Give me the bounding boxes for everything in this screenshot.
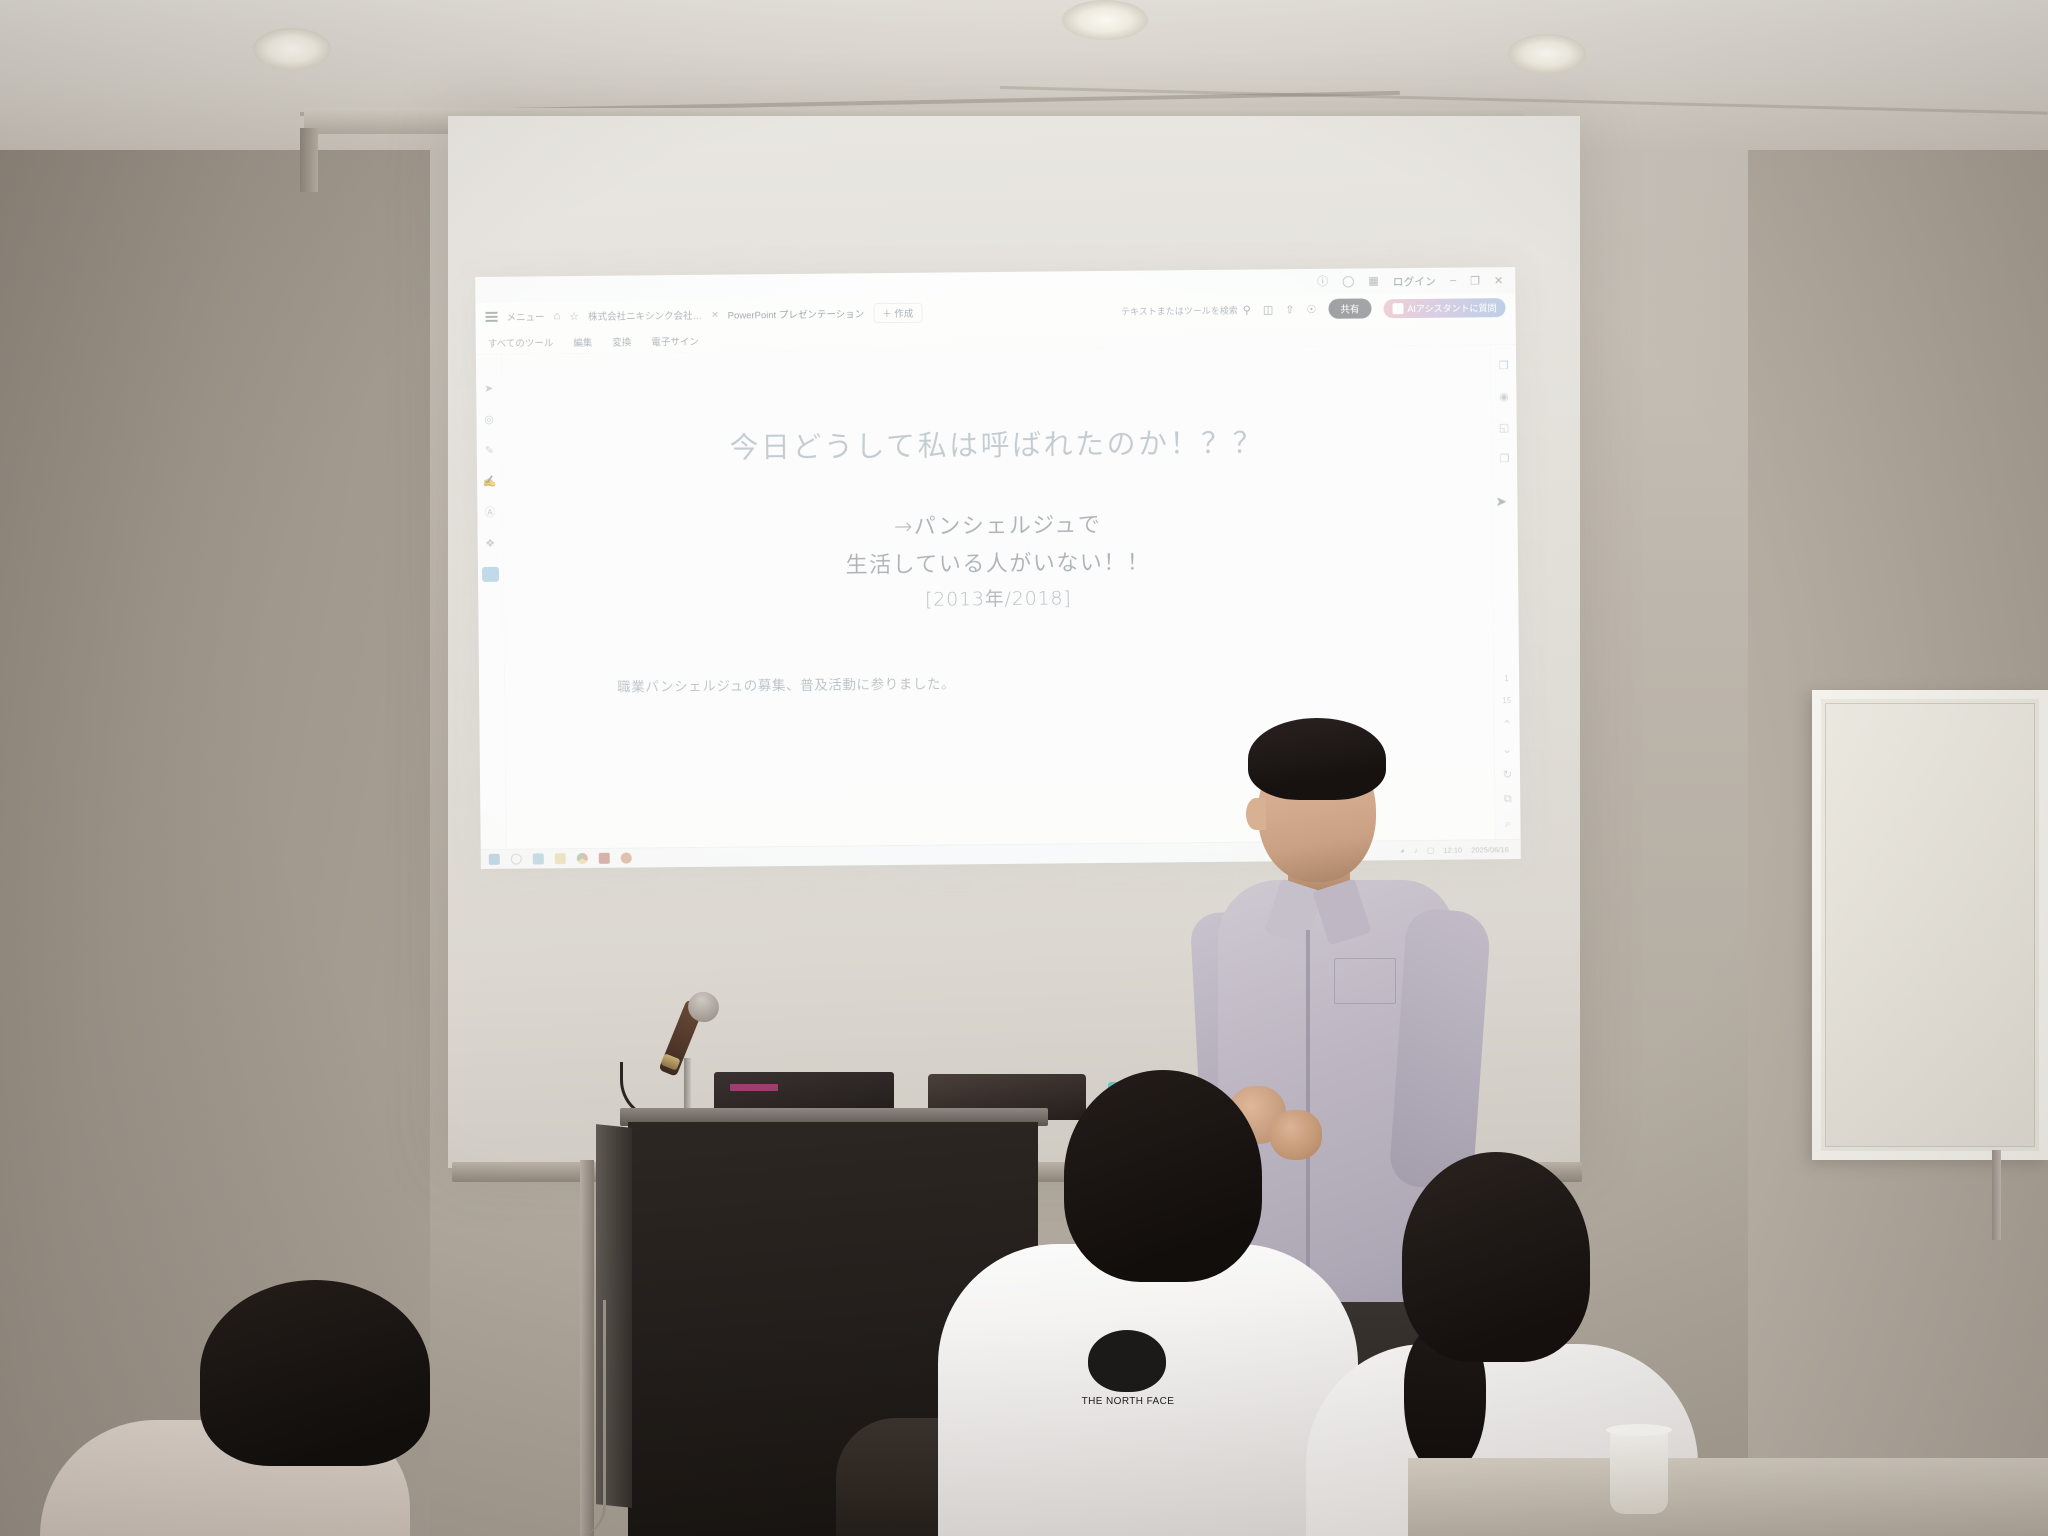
wifi-icon[interactable]: ◕	[1400, 846, 1405, 855]
menu-item-esign[interactable]: 電子サイン	[651, 333, 699, 347]
file-explorer-icon[interactable]	[555, 853, 566, 864]
briefcase-icon[interactable]: ◫	[1263, 303, 1274, 316]
tray-date[interactable]: 2025/06/16	[1471, 845, 1509, 854]
laptop-sticker	[730, 1084, 778, 1091]
login-button[interactable]: ログイン	[1393, 273, 1436, 288]
floor-cable	[560, 1300, 606, 1536]
tab-bar-right-group: テキストまたはツールを検索 ⚲ ◫ ⇧ ☉ 共有 AIアシスタントに質問	[1121, 297, 1516, 321]
slide-line-2: 生活している人がいない！！	[504, 541, 1492, 582]
ceiling-light-2	[1062, 0, 1148, 40]
rotate-icon[interactable]: ↻	[1503, 768, 1512, 781]
page-total: 15	[1502, 696, 1511, 706]
create-button[interactable]: ＋ 作成	[873, 303, 922, 323]
paper-cup	[1610, 1428, 1668, 1514]
chrome-icon[interactable]	[577, 853, 588, 864]
taskbar-search-icon[interactable]	[511, 854, 522, 865]
slide-note-text: 職業パンシェルジュの募集、普及活動に参りました。	[617, 672, 955, 695]
tab-powerpoint-presentation[interactable]: PowerPoint プレゼンテーション	[728, 306, 865, 321]
projector-screen-mount	[300, 128, 318, 192]
ai-assistant-button[interactable]: AIアシスタントに質問	[1383, 298, 1505, 318]
speaker-hair	[1248, 718, 1386, 800]
tab-company-doc[interactable]: 株式会社ニキシンク会社…	[588, 308, 702, 323]
zoom-icon[interactable]: ⌕	[1505, 818, 1511, 831]
next-page-icon[interactable]: ⌄	[1503, 743, 1512, 756]
start-button[interactable]	[489, 854, 500, 865]
task-view-icon[interactable]	[533, 853, 544, 864]
system-tray: ◕ ♪ ▢ 12:10 2025/06/16	[1400, 845, 1513, 855]
menu-item-edit[interactable]: 編集	[573, 334, 592, 348]
help-glyph[interactable]: ⓘ	[1317, 276, 1328, 287]
copy-pages-icon[interactable]: ❐	[1499, 452, 1509, 465]
ceiling-light-1	[253, 28, 331, 70]
prev-page-icon[interactable]: ⌃	[1502, 718, 1511, 731]
share-button[interactable]: 共有	[1328, 298, 1371, 318]
selected-tool-swatch[interactable]	[482, 567, 499, 582]
whiteboard-surface	[1825, 703, 2035, 1147]
view-settings-icon[interactable]: ◉	[1499, 390, 1509, 403]
whiteboard-leg	[1992, 1150, 2001, 1240]
audience-member-2-head	[1402, 1152, 1590, 1362]
ai-assistant-label: AIアシスタントに質問	[1407, 301, 1496, 315]
page-navigation-group: 1 15 ⌃ ⌄ ↻ ⧉ ⌕	[1494, 674, 1521, 831]
tray-time[interactable]: 12:10	[1443, 846, 1462, 855]
star-icon[interactable]: ☆	[569, 310, 579, 323]
menu-item-all-tools[interactable]: すべてのツール	[488, 335, 554, 350]
powerpoint-icon[interactable]	[621, 853, 632, 864]
stamp-icon[interactable]: ❖	[483, 536, 497, 550]
whiteboard	[1812, 690, 2048, 1160]
menu-label[interactable]: メニュー	[506, 309, 544, 323]
audience-member-1-torso	[938, 1244, 1358, 1536]
speaker-ear	[1246, 798, 1266, 830]
ai-sparkle-icon	[1392, 303, 1403, 314]
audience-member-1-head	[1064, 1070, 1262, 1282]
bookmark-icon[interactable]: ◱	[1499, 421, 1510, 434]
upload-icon[interactable]: ⇧	[1285, 303, 1294, 316]
slide-line-1: →パンシェルジュで	[503, 503, 1491, 544]
export-pdf-icon[interactable]: ❐	[1499, 359, 1509, 372]
home-icon[interactable]: ⌂	[554, 310, 561, 322]
slide-line-3: [2013年/2018]	[504, 579, 1492, 615]
fit-page-icon[interactable]: ⧉	[1504, 793, 1512, 806]
search-field[interactable]: テキストまたはツールを検索 ⚲	[1121, 303, 1251, 317]
ceiling-light-3	[1508, 34, 1586, 74]
volume-icon[interactable]: ♪	[1414, 846, 1418, 855]
pen-icon[interactable]: ✎	[482, 443, 496, 457]
mouse-cursor-icon: ➤	[1495, 493, 1507, 510]
shirt-logo-mark	[1088, 1330, 1166, 1392]
app-grid-icon[interactable]: ▦	[1368, 276, 1379, 287]
select-cursor-icon[interactable]: ➤	[482, 381, 496, 395]
highlighter-icon[interactable]: ✍	[483, 474, 497, 488]
minimize-button[interactable]: –	[1450, 275, 1456, 287]
audience-member-3-head	[200, 1280, 430, 1466]
slide-title: 今日どうして私は呼ばれたのか！？？	[503, 417, 1491, 468]
battery-icon[interactable]: ▢	[1427, 846, 1435, 855]
tab-close-icon[interactable]: ✕	[711, 309, 719, 320]
speaker-shirt-pocket	[1334, 958, 1396, 1004]
paper-cup-rim	[1606, 1424, 1672, 1436]
shirt-brand-text: THE NORTH FACE	[1080, 1396, 1176, 1407]
text-box-icon[interactable]: Ⓐ	[483, 505, 497, 519]
right-tool-rail: ❐ ◉ ◱ ❐ ➤ 1 15 ⌃ ⌄ ↻ ⧉ ⌕	[1490, 345, 1521, 839]
hamburger-menu-icon[interactable]	[486, 312, 498, 321]
page-current: 1	[1504, 674, 1509, 684]
bell-icon[interactable]: ◯	[1342, 276, 1354, 287]
menu-item-convert[interactable]: 変換	[612, 334, 631, 348]
table-surface	[1408, 1458, 2048, 1536]
search-icon[interactable]: ⚲	[1243, 303, 1251, 316]
speaker-hand-right	[1270, 1110, 1322, 1160]
search-placeholder: テキストまたはツールを検索	[1121, 303, 1238, 317]
close-button[interactable]: ✕	[1494, 274, 1503, 287]
comment-icon[interactable]: ◎	[482, 412, 496, 426]
acrobat-icon[interactable]	[599, 853, 610, 864]
conference-room-photo: help-icon ⓘ ◯ ▦ ログイン – ❐ ✕ メニュー ⌂ ☆ 株式会社…	[0, 0, 2048, 1536]
chat-icon[interactable]: ☉	[1306, 302, 1316, 315]
maximize-button[interactable]: ❐	[1470, 274, 1480, 287]
